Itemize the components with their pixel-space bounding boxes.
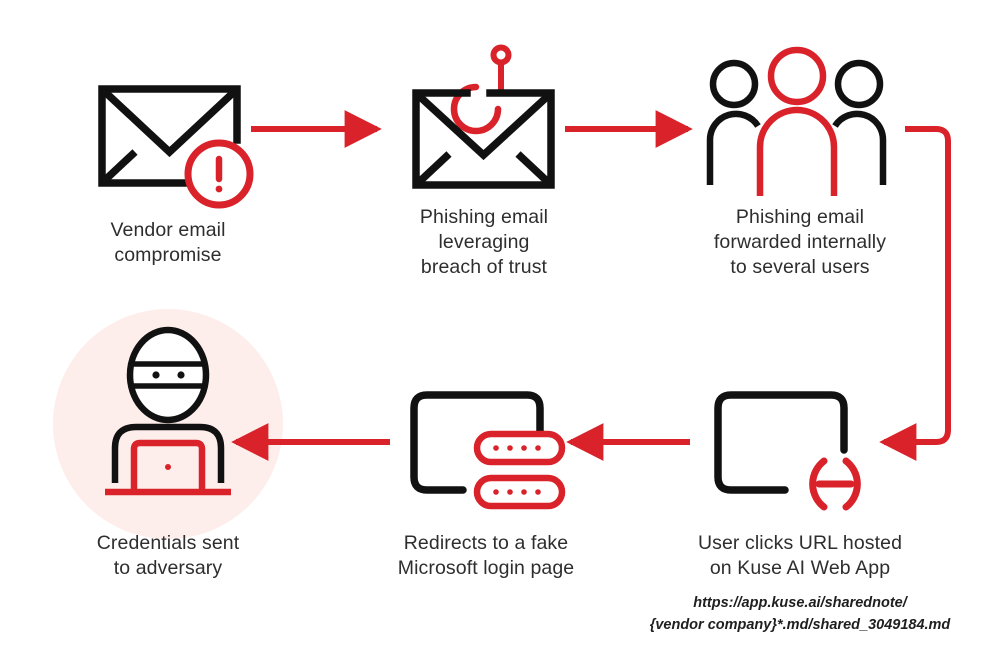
envelope-alert-icon (102, 89, 250, 205)
step-label-vendor-email-compromise: Vendor email compromise (52, 218, 284, 268)
browser-window-link-icon (718, 395, 857, 507)
envelope-fishing-hook-icon (416, 48, 551, 186)
step-label-user-clicks-url: User clicks URL hosted on Kuse AI Web Ap… (676, 531, 924, 581)
diagram-canvas: Vendor email compromise Phishing email l… (0, 0, 1001, 667)
step-label-credentials-sent-to-adversary: Credentials sent to adversary (56, 531, 280, 581)
step-label-phishing-email-leveraging-trust: Phishing email leveraging breach of trus… (368, 205, 600, 280)
step-label-phishing-email-forwarded: Phishing email forwarded internally to s… (680, 205, 920, 280)
phishing-url-note: https://app.kuse.ai/sharednote/ {vendor … (636, 592, 964, 636)
arrow-step3-to-step4 (884, 129, 948, 442)
browser-window-credentials-icon (414, 395, 562, 506)
step-label-fake-microsoft-login: Redirects to a fake Microsoft login page (368, 531, 604, 581)
three-users-icon (710, 50, 883, 196)
